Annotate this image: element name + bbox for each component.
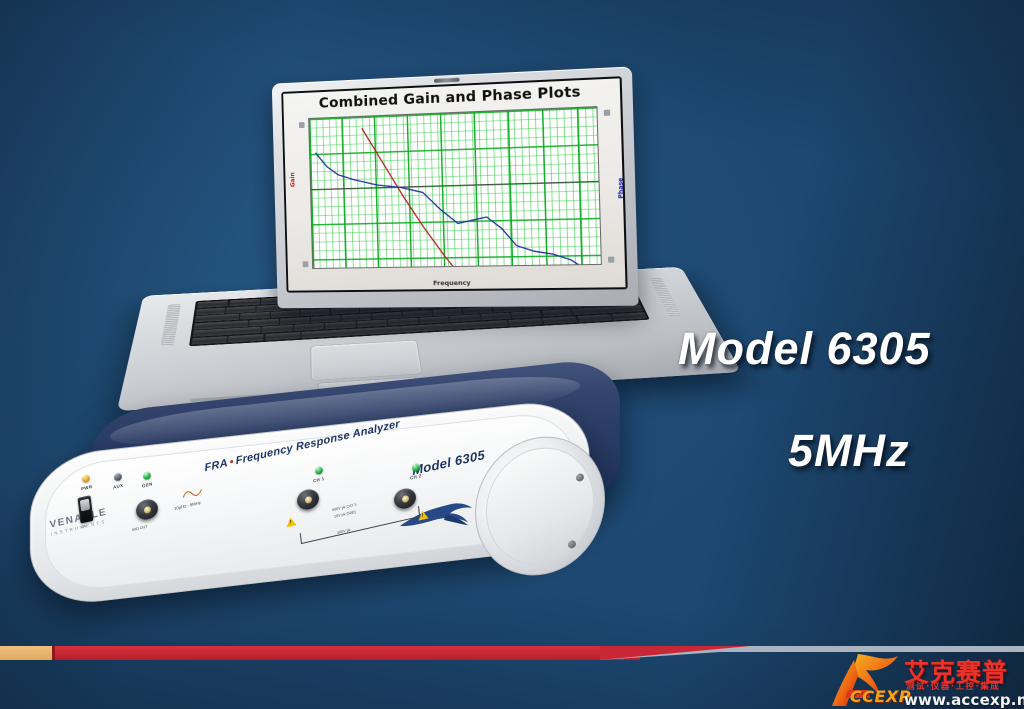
axis-label-frequency: Frequency [288,277,625,289]
chart-series-gain [362,120,569,269]
laptop-lid: Combined Gain and Phase Plots Gain Phase [272,66,639,308]
bnc-generator-output[interactable] [136,498,158,520]
generator-output-label: 50Ω OUT [132,525,148,533]
watermark-logo: CCEXP 艾克赛普 测试·仪器·工控·集成 www.accexp.net [828,650,1024,709]
key-arrow-left[interactable] [577,314,613,322]
lid-latch [433,78,459,83]
sine-wave-icon [181,486,204,501]
speaker-grille-left [161,304,181,345]
key-alt[interactable] [228,334,264,343]
plot-corner-mark-tl [299,122,305,128]
chart-series-layer [309,107,602,269]
led-label-pwr: PWR [81,484,93,491]
power-switch[interactable] [78,495,94,523]
banner-stripe-divider [52,646,55,660]
banner-gold-stripe [0,646,52,660]
bnc-ch1-input[interactable] [297,488,319,510]
led-label-ch2: CH 2 [410,473,422,481]
headline-model: Model 6305 [678,323,931,375]
speaker-grille-right [650,278,682,316]
chart-series-phase [315,143,601,269]
laptop-screen[interactable]: Combined Gain and Phase Plots Gain Phase [283,78,625,290]
led-ch1 [315,466,323,475]
generator-range-label: 10µHz - 5MHz [174,500,201,511]
key-cmd-right[interactable] [507,318,543,326]
led-pwr [82,474,90,483]
axis-label-phase: Phase [617,178,625,199]
chart-plot-area [308,106,602,269]
frequency-response-analyzer: Model 6305 VENABLE INSTRUMENTS FRA•Frequ… [20,385,640,615]
panel-title-prefix: FRA [204,457,228,474]
led-label-aux: AUX [113,483,124,490]
product-image-canvas: Combined Gain and Phase Plots Gain Phase [0,0,1024,709]
headline-frequency: 5MHz [788,425,910,477]
led-aux [114,472,122,481]
watermark-url: www.accexp.net [904,691,1024,709]
axis-label-gain: Gain [289,173,296,188]
plot-corner-mark-tr [604,110,610,116]
led-gen [143,471,151,480]
key-arrow-right[interactable] [611,312,647,320]
led-label-gen: GEN [142,481,153,488]
input-group-bracket [300,506,420,544]
led-label-ch1: CH 1 [313,476,325,484]
key-alt-right[interactable] [542,316,578,324]
accexp-wordmark: CCEXP [850,687,911,706]
warning-icon-ch1 [286,516,297,527]
key-cmd[interactable] [265,332,300,341]
plot-corner-mark-bl [303,261,309,267]
screen-bezel: Combined Gain and Phase Plots Gain Phase [281,76,627,292]
plot-corner-mark-br [608,257,614,263]
key-ctrl[interactable] [191,336,227,345]
laptop-trackpad[interactable] [310,340,422,381]
led-ch2 [412,463,420,472]
banner-red-stripe [0,646,640,660]
